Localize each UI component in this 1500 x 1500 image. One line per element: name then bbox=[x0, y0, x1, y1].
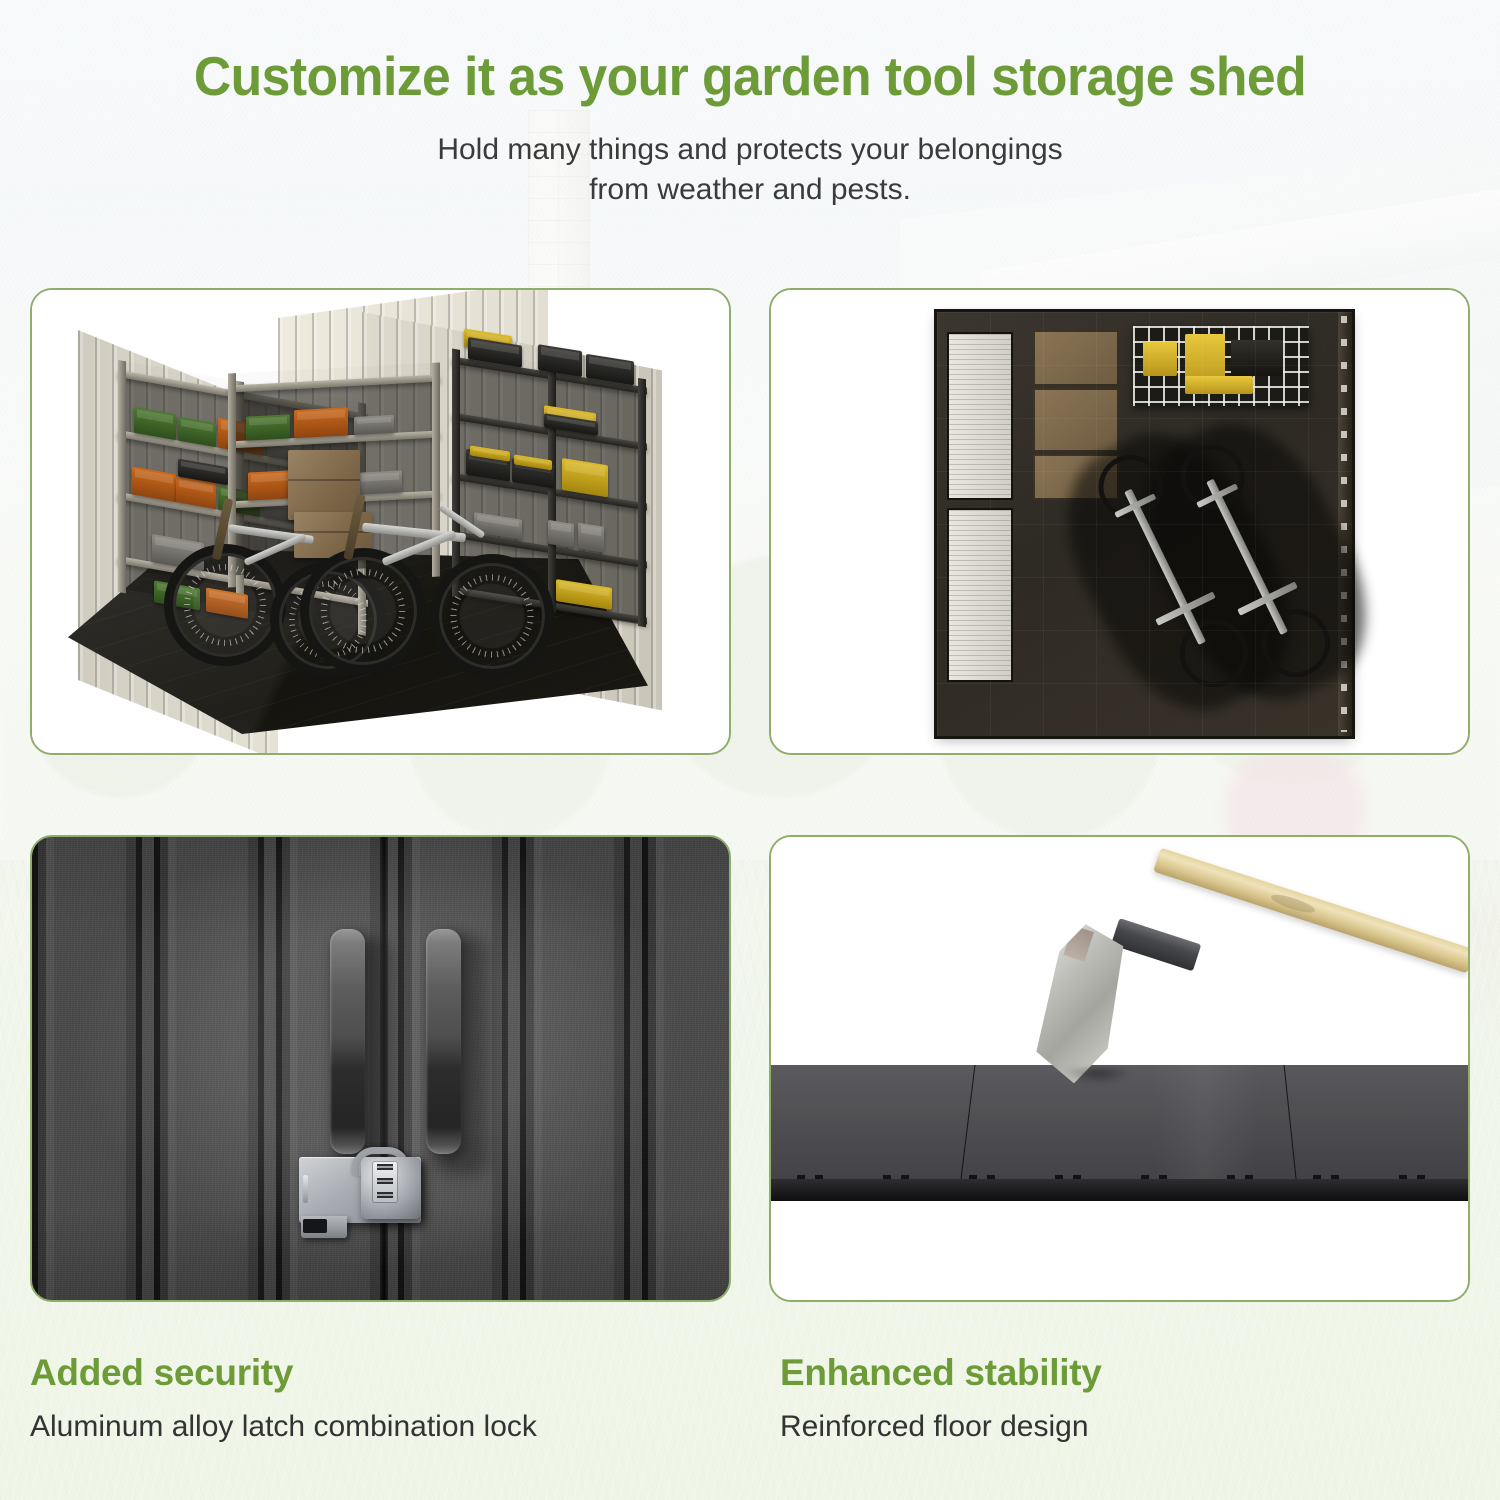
wall-panel-stack bbox=[949, 334, 1011, 498]
bike-wheel bbox=[1168, 608, 1259, 699]
bike-shadow bbox=[1111, 396, 1398, 727]
tool-case bbox=[1185, 376, 1253, 394]
shed-floor-plan bbox=[937, 312, 1352, 736]
page-title: Customize it as your garden tool storage… bbox=[45, 0, 1455, 108]
storage-bin bbox=[354, 415, 394, 435]
bike-wheel bbox=[1250, 598, 1341, 689]
bike-frame bbox=[1124, 489, 1206, 645]
tool-case bbox=[1231, 340, 1283, 376]
caption-title: Added security bbox=[30, 1352, 750, 1394]
bike-crossbar bbox=[1114, 493, 1156, 518]
hammer-handle bbox=[1153, 848, 1470, 974]
door-closeup-illustration bbox=[32, 837, 729, 1300]
feature-card-grid bbox=[30, 288, 1470, 1302]
card-shed-top-down bbox=[769, 288, 1470, 755]
shed-top-down-illustration bbox=[771, 290, 1468, 753]
feature-card-row-bottom bbox=[30, 835, 1470, 1302]
cardboard-box bbox=[288, 450, 360, 520]
caption-added-security: Added security Aluminum alloy latch comb… bbox=[0, 1352, 750, 1444]
bike-handlebar bbox=[1237, 581, 1298, 615]
wall-panel-stack bbox=[949, 510, 1011, 680]
bike-wheel bbox=[164, 544, 286, 666]
card-floor-strength bbox=[769, 835, 1470, 1302]
page-subtitle-line-2: from weather and pests. bbox=[589, 173, 911, 206]
cardboard-box bbox=[1033, 388, 1119, 452]
hammer-impact-shadow bbox=[1063, 1069, 1133, 1085]
caption-row: Added security Aluminum alloy latch comb… bbox=[0, 1352, 1500, 1444]
page-subtitle-line-1: Hold many things and protects your belon… bbox=[437, 133, 1062, 166]
floor-strength-illustration bbox=[771, 837, 1468, 1300]
tool-case bbox=[1185, 334, 1225, 390]
caption-title: Enhanced stability bbox=[780, 1352, 1500, 1394]
bike-frame bbox=[1206, 479, 1288, 635]
bike-shadow bbox=[1035, 406, 1322, 737]
shed-floor-edge bbox=[1338, 312, 1352, 736]
wire-shelf bbox=[1133, 326, 1309, 406]
cardboard-box bbox=[1033, 330, 1119, 386]
storage-bin bbox=[294, 407, 348, 438]
page-subtitle: Hold many things and protects your belon… bbox=[300, 130, 1200, 209]
bike-wheel bbox=[1170, 434, 1256, 520]
tool-case bbox=[1143, 342, 1177, 376]
card-shed-interior bbox=[30, 288, 731, 755]
storage-bin bbox=[358, 470, 402, 494]
shelf-post bbox=[118, 360, 126, 593]
hammer-neck bbox=[1111, 918, 1201, 971]
cardboard-box bbox=[1033, 454, 1119, 500]
door-lighting bbox=[32, 837, 729, 1300]
bike-crossbar bbox=[1196, 483, 1238, 508]
feature-card-row-top bbox=[30, 288, 1470, 755]
header: Customize it as your garden tool storage… bbox=[0, 0, 1500, 209]
bike-wheel bbox=[430, 554, 554, 678]
caption-subtitle: Reinforced floor design bbox=[780, 1410, 1500, 1444]
bike-wheel bbox=[300, 548, 426, 674]
caption-subtitle: Aluminum alloy latch combination lock bbox=[30, 1410, 750, 1444]
storage-bin bbox=[246, 414, 290, 440]
bike-top-view bbox=[1137, 415, 1368, 706]
shelf-post bbox=[452, 349, 460, 598]
shed-interior-illustration bbox=[32, 290, 729, 753]
bike-wheel bbox=[1088, 444, 1174, 530]
caption-enhanced-stability: Enhanced stability Reinforced floor desi… bbox=[750, 1352, 1500, 1444]
tool-case bbox=[548, 520, 574, 548]
tool-case bbox=[578, 523, 604, 553]
card-door-lock bbox=[30, 835, 731, 1302]
sledgehammer bbox=[771, 837, 1468, 1300]
bike-handlebar bbox=[1155, 591, 1216, 625]
shelf-post bbox=[638, 378, 646, 627]
bike-top-view bbox=[1055, 425, 1286, 716]
